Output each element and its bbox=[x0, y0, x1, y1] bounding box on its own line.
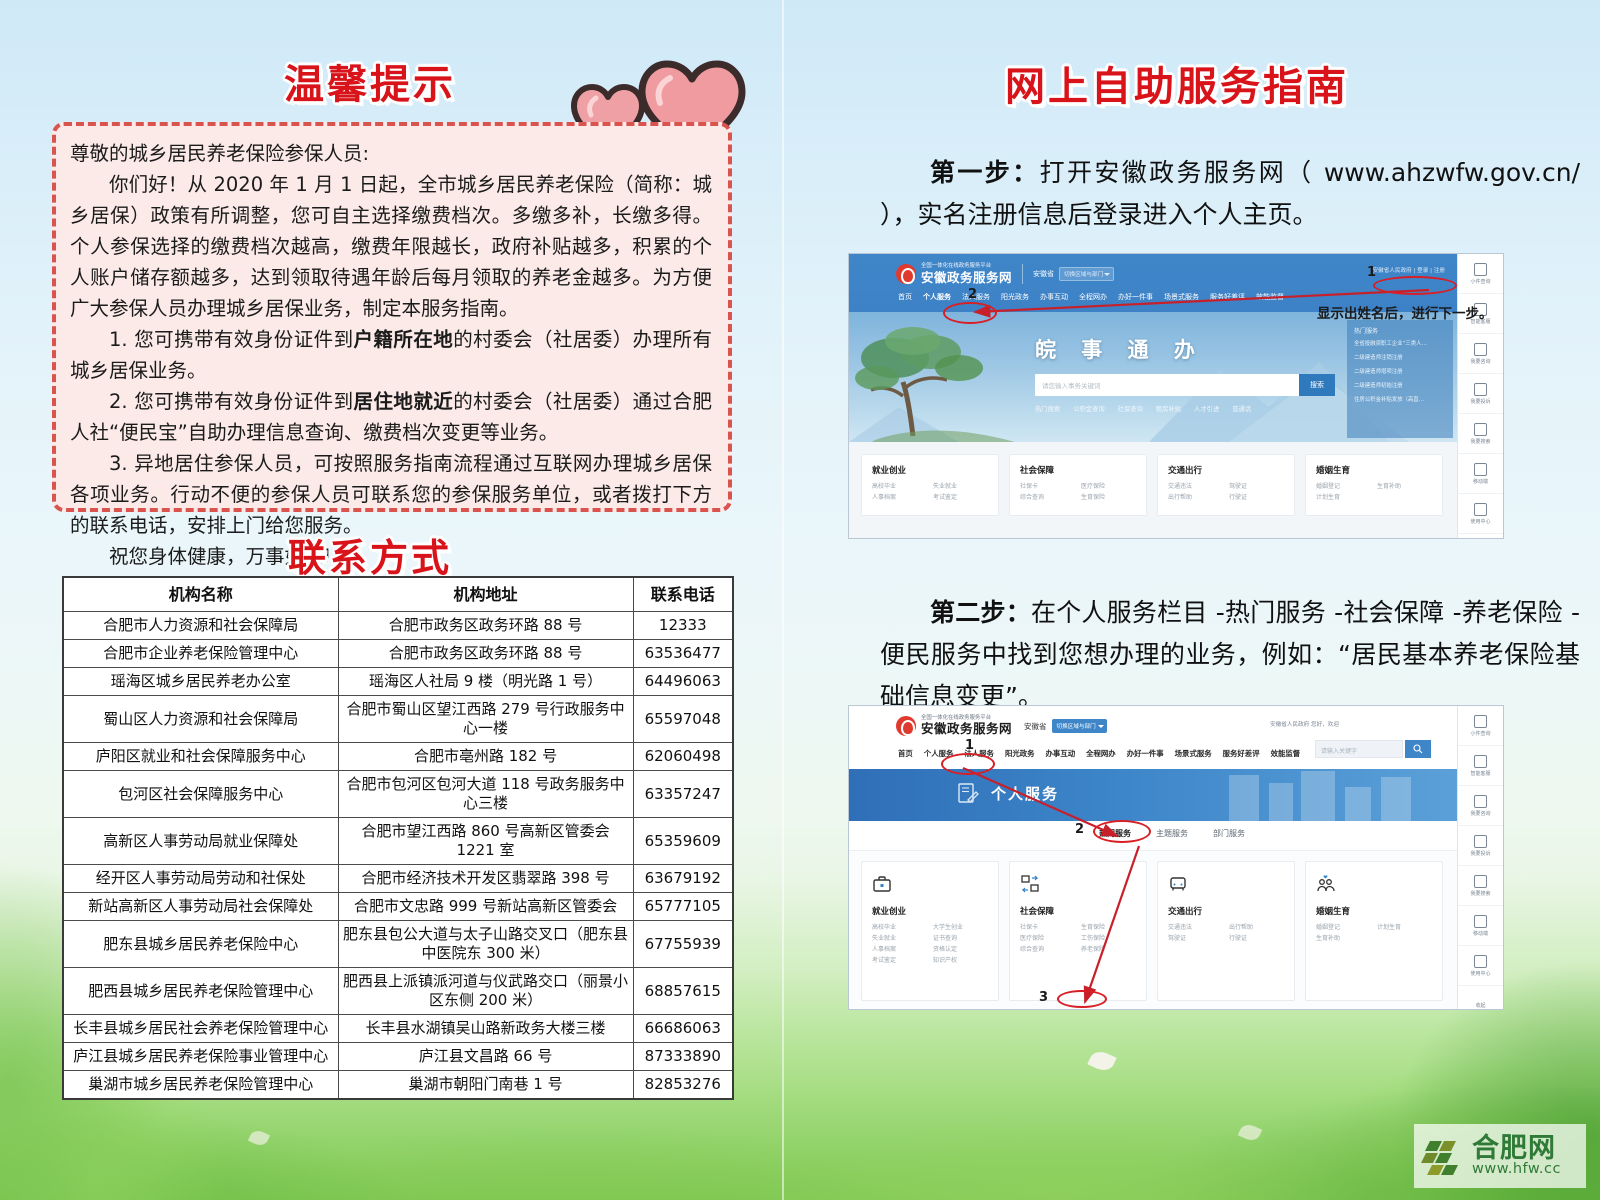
table-cell-org-name: 庐阳区就业和社会保障服务中心 bbox=[63, 743, 338, 771]
annotation-ellipse-1 bbox=[1373, 276, 1457, 295]
table-cell-org-phone: 63679192 bbox=[633, 865, 733, 893]
table-header-org-name: 机构名称 bbox=[63, 577, 338, 612]
side-panel-item[interactable]: 全省投融资职工企业“三类人… bbox=[1354, 339, 1446, 347]
rail-item-label: 小件查询 bbox=[1470, 730, 1490, 737]
shot1-side-panel-title: 热门服务 bbox=[1354, 326, 1446, 335]
mobile-icon bbox=[1474, 463, 1487, 476]
nav-item-9[interactable]: 效能监督 bbox=[1256, 292, 1284, 302]
tip-paragraph-2: 2. 您可携带有效身份证件到居住地就近的村委会（社居委）通过合肥人社“便民宝”自… bbox=[70, 386, 712, 448]
tip-paragraph-1: 1. 您可携带有效身份证件到户籍所在地的村委会（社居委）办理所有城乡居保业务。 bbox=[70, 324, 712, 386]
tab-2[interactable]: 部门服务 bbox=[1213, 828, 1245, 839]
table-cell-org-name: 巢湖市城乡居民养老保险管理中心 bbox=[63, 1071, 338, 1100]
table-cell-org-addr: 合肥市亳州路 182 号 bbox=[338, 743, 633, 771]
watermark-url: www.hfw.cc bbox=[1472, 1162, 1561, 1177]
step-1-label: 第一步： bbox=[930, 158, 1040, 187]
category-card-1[interactable]: 社会保障社保卡医疗保险综合查询生育保险 bbox=[1009, 454, 1147, 516]
watermark: 合肥网 www.hfw.cc bbox=[1414, 1124, 1586, 1188]
help-icon bbox=[1474, 955, 1487, 968]
category-sub-item[interactable]: 综合查询 bbox=[1020, 945, 1075, 954]
annotation-callout-1: 显示出姓名后，进行下一步。 bbox=[1317, 302, 1493, 322]
rail-item-label: 我要咨询 bbox=[1470, 810, 1490, 817]
table-cell-org-name: 长丰县城乡居民社会养老保险管理中心 bbox=[63, 1015, 338, 1043]
annotation-number-2: 2 bbox=[1075, 822, 1084, 837]
nav-item-6[interactable]: 办好一件事 bbox=[1127, 748, 1164, 759]
category-sub-item[interactable]: 出行帮助 bbox=[1229, 923, 1284, 932]
table-cell-org-phone: 63536477 bbox=[633, 640, 733, 668]
rail-item-label: 移动端 bbox=[1473, 478, 1488, 485]
briefcase-icon bbox=[872, 874, 988, 898]
rail-item-label: 小件查询 bbox=[1470, 278, 1490, 285]
hot-tag-1[interactable]: 公积金查询 bbox=[1073, 404, 1104, 413]
table-row: 包河区社会保障服务中心合肥市包河区包河大道 118 号政务服务中心三楼63357… bbox=[63, 771, 733, 818]
category-title: 交通出行 bbox=[1168, 464, 1284, 476]
shot2-banner-title: 个人服务 bbox=[991, 783, 1059, 804]
category-sub-item[interactable]: 失业就业 bbox=[933, 482, 988, 491]
table-cell-org-addr: 肥东县包公大道与太子山路交叉口（肥东县中医院东 300 米） bbox=[338, 921, 633, 968]
category-sub-item[interactable]: 出行帮助 bbox=[1168, 493, 1223, 502]
shot1-search-button[interactable]: 搜索 bbox=[1299, 374, 1335, 396]
nav-item-1[interactable]: 个人服务 bbox=[923, 292, 951, 302]
table-row: 庐江县城乡居民养老保险事业管理中心庐江县文昌路 66 号87333890 bbox=[63, 1043, 733, 1071]
category-sub-item[interactable]: 社保卡 bbox=[1020, 923, 1075, 932]
side-panel-item[interactable]: 二级建造师增项注册 bbox=[1354, 367, 1446, 375]
category-sub-item[interactable]: 社保卡 bbox=[1020, 482, 1075, 491]
rail-item-mobile[interactable]: 移动端 bbox=[1458, 454, 1503, 494]
document-icon bbox=[957, 783, 979, 809]
step-1-paragraph: 第一步：打开安徽政务服务网（ www.ahzwfw.gov.cn/ ），实名注册… bbox=[880, 152, 1580, 236]
screenshot-homepage: 全国一体化在线政务服务平台 安徽政务服务网 安徽省 切换区域与部门 安徽省人民政… bbox=[848, 253, 1504, 539]
table-cell-org-phone: 63357247 bbox=[633, 771, 733, 818]
left-panel: 温馨提示 尊敬的城乡居民养老保险参保人员: 你们好！从 2020 年 1 月 1… bbox=[0, 0, 782, 1200]
shot1-region-select[interactable]: 切换区域与部门 bbox=[1059, 267, 1114, 281]
shot2-search-box[interactable]: 请输入关键字 bbox=[1315, 740, 1403, 758]
table-cell-org-addr: 合肥市政务区政务环路 88 号 bbox=[338, 612, 633, 640]
tab-1[interactable]: 主题服务 bbox=[1156, 828, 1188, 839]
nav-item-0[interactable]: 首页 bbox=[898, 292, 912, 302]
rail-item-label: 使用中心 bbox=[1470, 970, 1490, 977]
annotation-number-1: 1 bbox=[1367, 265, 1376, 280]
category-sub-item[interactable]: 大学生创业 bbox=[933, 923, 988, 932]
rail-item-label: 收起 bbox=[1475, 1002, 1485, 1009]
contact-table: 机构名称 机构地址 联系电话 合肥市人力资源和社会保障局合肥市政务区政务环路 8… bbox=[62, 576, 734, 1100]
table-cell-org-name: 合肥市人力资源和社会保障局 bbox=[63, 612, 338, 640]
hot-tag-0: 热门搜索 bbox=[1035, 404, 1060, 413]
table-row: 蜀山区人力资源和社会保障局合肥市蜀山区望江西路 279 号行政服务中心一楼655… bbox=[63, 696, 733, 743]
rail-item-search[interactable]: 我要搜索 bbox=[1458, 414, 1503, 454]
table-row: 肥西县城乡居民养老保险管理中心肥西县上派镇派河道与仪武路交口（丽景小区东侧 20… bbox=[63, 968, 733, 1015]
table-row: 合肥市人力资源和社会保障局合肥市政务区政务环路 88 号12333 bbox=[63, 612, 733, 640]
shot1-province: 安徽省 bbox=[1033, 269, 1054, 279]
category-card-1[interactable]: 社会保障社保卡生育保险医疗保险工伤保险综合查询养老保险 bbox=[1009, 861, 1147, 1001]
category-sub-item[interactable]: 考试鉴定 bbox=[872, 956, 927, 965]
shot1-side-panel: 热门服务 全省投融资职工企业“三类人…二级建造师注销注册二级建造师增项注册二级建… bbox=[1347, 320, 1453, 438]
category-sub-item[interactable]: 生育保险 bbox=[1081, 493, 1136, 502]
table-row: 长丰县城乡居民社会养老保险管理中心长丰县水湖镇吴山路新政务大楼三楼6668606… bbox=[63, 1015, 733, 1043]
rail-item-mobile[interactable]: 移动端 bbox=[1458, 906, 1503, 946]
category-card-2[interactable]: 交通出行交通违法驾驶证出行帮助行驶证 bbox=[1157, 454, 1295, 516]
shot1-nav: 首页个人服务法人服务阳光政务办事互动全程网办办好一件事场景式服务服务好差评效能监… bbox=[898, 292, 1284, 302]
shot1-right-rail: 小件查询智能客服我要咨询我要投诉我要搜索移动端使用中心收起 bbox=[1457, 254, 1503, 539]
table-cell-org-addr: 长丰县水湖镇吴山路新政务大楼三楼 bbox=[338, 1015, 633, 1043]
category-card-2[interactable]: 交通出行交通违法出行帮助驾驶证行驶证 bbox=[1157, 861, 1295, 1001]
watermark-name: 合肥网 bbox=[1472, 1135, 1561, 1162]
table-cell-org-phone: 65777105 bbox=[633, 893, 733, 921]
table-row: 经开区人事劳动局劳动和社保处合肥市经济技术开发区翡翠路 398 号6367919… bbox=[63, 865, 733, 893]
category-sub-item[interactable]: 计划生育 bbox=[1377, 923, 1432, 932]
rail-item-collapse[interactable]: 收起 bbox=[1458, 534, 1503, 539]
category-sub-item[interactable]: 计划生育 bbox=[1316, 493, 1371, 502]
table-row: 高新区人事劳动局就业保障处合肥市望江西路 860 号高新区管委会 1221 室6… bbox=[63, 818, 733, 865]
file-icon bbox=[1474, 263, 1487, 276]
social-security-icon bbox=[1020, 874, 1136, 898]
category-card-3[interactable]: 婚姻生育婚姻登记计划生育生育补助 bbox=[1305, 861, 1443, 1001]
rail-item-help[interactable]: 使用中心 bbox=[1458, 946, 1503, 986]
table-row: 合肥市企业养老保险管理中心合肥市政务区政务环路 88 号63536477 bbox=[63, 640, 733, 668]
rail-item-edit[interactable]: 我要投诉 bbox=[1458, 826, 1503, 866]
category-sub-item[interactable]: 婚姻登记 bbox=[1316, 482, 1371, 491]
annotation-ellipse-2 bbox=[1093, 820, 1151, 843]
category-sub-item[interactable]: 养老保险 bbox=[1081, 945, 1136, 954]
category-card-0[interactable]: 就业创业高校毕业大学生创业失业就业证书查询人事档案资格认定考试鉴定知识产权 bbox=[861, 861, 999, 1001]
annotation-ellipse-1 bbox=[941, 753, 995, 775]
category-title: 就业创业 bbox=[872, 464, 988, 476]
rail-item-search[interactable]: 我要搜索 bbox=[1458, 866, 1503, 906]
shot2-logo-title: 安徽政务服务网 bbox=[921, 723, 1012, 736]
nav-item-0[interactable]: 首页 bbox=[898, 748, 913, 759]
table-cell-org-phone: 65597048 bbox=[633, 696, 733, 743]
headset-icon bbox=[1474, 755, 1487, 768]
shot1-logo-subtitle: 全国一体化在线政务服务平台 bbox=[921, 263, 1012, 270]
category-sub-item[interactable]: 知识产权 bbox=[933, 956, 988, 965]
category-sub-item[interactable]: 驾驶证 bbox=[1229, 482, 1284, 491]
shot2-header: 全国一体化在线政务服务平台 安徽政务服务网 安徽省 切换区域与部门 安徽省人民政… bbox=[849, 706, 1459, 769]
step-2-label: 第二步： bbox=[930, 598, 1031, 627]
table-row: 庐阳区就业和社会保障服务中心合肥市亳州路 182 号62060498 bbox=[63, 743, 733, 771]
step-2-paragraph: 第二步：在个人服务栏目 -热门服务 -社会保障 -养老保险 -便民服务中找到您想… bbox=[880, 592, 1580, 718]
category-title: 社会保障 bbox=[1020, 464, 1136, 476]
table-cell-org-addr: 瑶海区人社局 9 楼（明光路 1 号） bbox=[338, 668, 633, 696]
category-sub-item[interactable]: 资格认定 bbox=[933, 945, 988, 954]
side-panel-item[interactable]: 二级建造师初始注册 bbox=[1354, 381, 1446, 389]
search-icon bbox=[1474, 875, 1487, 888]
category-sub-item[interactable]: 行驶证 bbox=[1229, 934, 1284, 943]
category-sub-item[interactable]: 考试鉴定 bbox=[933, 493, 988, 502]
help-icon bbox=[1474, 503, 1487, 516]
shot1-logo-title: 安徽政务服务网 bbox=[921, 272, 1012, 285]
nav-item-7[interactable]: 场景式服务 bbox=[1175, 748, 1212, 759]
table-cell-org-name: 瑶海区城乡居民养老办公室 bbox=[63, 668, 338, 696]
category-sub-item[interactable]: 婚姻登记 bbox=[1316, 923, 1371, 932]
table-cell-org-addr: 合肥市文忠路 999 号新站高新区管委会 bbox=[338, 893, 633, 921]
rail-item-file[interactable]: 小件查询 bbox=[1458, 254, 1503, 294]
table-cell-org-addr: 肥西县上派镇派河道与仪武路交口（丽景小区东侧 200 米） bbox=[338, 968, 633, 1015]
table-cell-org-phone: 68857615 bbox=[633, 968, 733, 1015]
right-panel: 网上自助服务指南 第一步：打开安徽政务服务网（ www.ahzwfw.gov.c… bbox=[782, 0, 1600, 1200]
bus-icon bbox=[1168, 874, 1284, 898]
category-sub-item[interactable]: 生育补助 bbox=[1316, 934, 1371, 943]
shot1-logo-divider bbox=[1022, 264, 1023, 284]
edit-icon bbox=[1474, 383, 1487, 396]
table-cell-org-name: 蜀山区人力资源和社会保障局 bbox=[63, 696, 338, 743]
category-card-3[interactable]: 婚姻生育婚姻登记生育补助计划生育 bbox=[1305, 454, 1443, 516]
shot1-search-box[interactable]: 请您输入事务关键词 bbox=[1035, 374, 1299, 396]
nav-item-6[interactable]: 办好一件事 bbox=[1118, 292, 1153, 302]
table-cell-org-phone: 62060498 bbox=[633, 743, 733, 771]
category-title: 婚姻生育 bbox=[1316, 905, 1432, 917]
hot-tag-3[interactable]: 租房补贴 bbox=[1156, 404, 1181, 413]
rail-item-headset[interactable]: 智能客服 bbox=[1458, 746, 1503, 786]
table-cell-org-addr: 合肥市蜀山区望江西路 279 号行政服务中心一楼 bbox=[338, 696, 633, 743]
file-icon bbox=[1474, 715, 1487, 728]
chat-icon bbox=[1474, 343, 1487, 356]
category-title: 交通出行 bbox=[1168, 905, 1284, 917]
table-cell-org-phone: 66686063 bbox=[633, 1015, 733, 1043]
category-sub-item[interactable]: 医疗保险 bbox=[1020, 934, 1075, 943]
category-sub-item[interactable]: 驾驶证 bbox=[1168, 934, 1223, 943]
search-icon bbox=[1474, 423, 1487, 436]
category-sub-item[interactable]: 人事档案 bbox=[872, 493, 927, 502]
rail-item-label: 我要投诉 bbox=[1470, 850, 1490, 857]
shot2-right-rail: 小件查询智能客服我要咨询我要投诉我要搜索移动端使用中心收起 bbox=[1457, 706, 1503, 1010]
table-cell-org-name: 肥东县城乡居民养老保险中心 bbox=[63, 921, 338, 968]
shot2-search-button[interactable] bbox=[1405, 740, 1431, 758]
category-sub-item[interactable]: 交通违法 bbox=[1168, 923, 1223, 932]
rail-item-label: 我要咨询 bbox=[1470, 358, 1490, 365]
annotation-number-1: 1 bbox=[965, 738, 974, 753]
rail-item-help[interactable]: 使用中心 bbox=[1458, 494, 1503, 534]
category-sub-item[interactable]: 证书查询 bbox=[933, 934, 988, 943]
category-title: 婚姻生育 bbox=[1316, 464, 1432, 476]
nav-item-5[interactable]: 全程网办 bbox=[1079, 292, 1107, 302]
nav-item-8[interactable]: 服务好差评 bbox=[1210, 292, 1245, 302]
shot1-search-placeholder: 请您输入事务关键词 bbox=[1042, 380, 1101, 390]
category-sub-item[interactable]: 医疗保险 bbox=[1081, 482, 1136, 491]
shot2-search-placeholder: 请输入关键字 bbox=[1321, 746, 1357, 755]
tip-paragraph-intro: 你们好！从 2020 年 1 月 1 日起，全市城乡居民养老保险（简称：城乡居保… bbox=[70, 169, 712, 324]
guide-title: 网上自助服务指南 bbox=[782, 54, 1572, 112]
category-sub-item[interactable]: 高校毕业 bbox=[872, 923, 927, 932]
rail-item-chat[interactable]: 我要咨询 bbox=[1458, 334, 1503, 374]
shot1-content: 就业创业高校毕业失业就业人事档案考试鉴定社会保障社保卡医疗保险综合查询生育保险交… bbox=[849, 442, 1459, 539]
annotation-ellipse-3 bbox=[1057, 990, 1107, 1008]
shot2-account-area[interactable]: 安徽省人民政府 您好，欢迎 bbox=[1270, 720, 1339, 728]
category-card-0[interactable]: 就业创业高校毕业失业就业人事档案考试鉴定 bbox=[861, 454, 999, 516]
nav-item-9[interactable]: 效能监督 bbox=[1271, 748, 1301, 759]
nav-item-4[interactable]: 办事互动 bbox=[1046, 748, 1076, 759]
tip-salutation: 尊敬的城乡居民养老保险参保人员: bbox=[70, 138, 712, 169]
table-row: 瑶海区城乡居民养老办公室瑶海区人社局 9 楼（明光路 1 号）64496063 bbox=[63, 668, 733, 696]
shot1-hot-tags: 热门搜索公积金查询社保查询租房补贴人才引进普通话 bbox=[1035, 404, 1251, 413]
annotation-number-3: 3 bbox=[1039, 990, 1048, 1005]
table-cell-org-addr: 巢湖市朝阳门南巷 1 号 bbox=[338, 1071, 633, 1100]
table-header-org-phone: 联系电话 bbox=[633, 577, 733, 612]
rail-item-chat[interactable]: 我要咨询 bbox=[1458, 786, 1503, 826]
table-header-row: 机构名称 机构地址 联系电话 bbox=[63, 577, 733, 612]
category-sub-item[interactable]: 失业就业 bbox=[872, 934, 927, 943]
contact-title: 联系方式 bbox=[0, 527, 740, 582]
nav-item-3[interactable]: 阳光政务 bbox=[1005, 748, 1035, 759]
category-sub-item[interactable]: 生育保险 bbox=[1081, 923, 1136, 932]
hot-tag-4[interactable]: 人才引进 bbox=[1194, 404, 1219, 413]
table-cell-org-name: 经开区人事劳动局劳动和社保处 bbox=[63, 865, 338, 893]
side-panel-item[interactable]: 二级建造师注销注册 bbox=[1354, 353, 1446, 361]
shot2-tabs-row: 热门服务主题服务部门服务 bbox=[849, 821, 1459, 851]
mobile-icon bbox=[1474, 915, 1487, 928]
table-cell-org-phone: 67755939 bbox=[633, 921, 733, 968]
nav-item-8[interactable]: 服务好差评 bbox=[1223, 748, 1260, 759]
shot2-banner: 个人服务 bbox=[849, 769, 1459, 821]
rail-item-file[interactable]: 小件查询 bbox=[1458, 706, 1503, 746]
nav-item-4[interactable]: 办事互动 bbox=[1040, 292, 1068, 302]
table-row: 新站高新区人事劳动局社会保障处合肥市文忠路 999 号新站高新区管委会65777… bbox=[63, 893, 733, 921]
annotation-ellipse-2 bbox=[943, 302, 997, 324]
category-sub-item[interactable]: 交通违法 bbox=[1168, 482, 1223, 491]
table-cell-org-name: 合肥市企业养老保险管理中心 bbox=[63, 640, 338, 668]
search-icon bbox=[1413, 744, 1423, 754]
table-cell-org-phone: 12333 bbox=[633, 612, 733, 640]
table-cell-org-addr: 庐江县文昌路 66 号 bbox=[338, 1043, 633, 1071]
family-icon bbox=[1316, 874, 1432, 898]
chevron-down-icon bbox=[1104, 273, 1110, 276]
nav-item-3[interactable]: 阳光政务 bbox=[1001, 292, 1029, 302]
hefei-logo-icon bbox=[1420, 1133, 1466, 1179]
category-sub-item[interactable]: 高校毕业 bbox=[872, 482, 927, 491]
chevron-down-icon bbox=[1098, 725, 1104, 728]
table-cell-org-phone: 65359609 bbox=[633, 818, 733, 865]
category-sub-item[interactable]: 人事档案 bbox=[872, 945, 927, 954]
rail-item-label: 我要投诉 bbox=[1470, 398, 1490, 405]
category-sub-item[interactable]: 行驶证 bbox=[1229, 493, 1284, 502]
rail-item-label: 我要搜索 bbox=[1470, 890, 1490, 897]
site-logo-icon bbox=[896, 716, 916, 736]
shot1-hero: 皖 事 通 办 请您输入事务关键词 搜索 热门搜索公积金查询社保查询租房补贴人才… bbox=[849, 312, 1459, 442]
edit-icon bbox=[1474, 835, 1487, 848]
table-cell-org-phone: 87333890 bbox=[633, 1043, 733, 1071]
table-cell-org-addr: 合肥市政务区政务环路 88 号 bbox=[338, 640, 633, 668]
category-sub-item[interactable]: 工伤保险 bbox=[1081, 934, 1136, 943]
table-cell-org-phone: 64496063 bbox=[633, 668, 733, 696]
category-title: 社会保障 bbox=[1020, 905, 1136, 917]
shot1-banner-title: 皖 事 通 办 bbox=[1035, 334, 1204, 364]
side-panel-item[interactable]: 住房公积金补贴发放（高直… bbox=[1354, 395, 1446, 403]
shot2-content: 就业创业高校毕业大学生创业失业就业证书查询人事档案资格认定考试鉴定知识产权社会保… bbox=[849, 851, 1459, 1010]
annotation-number-2: 2 bbox=[968, 287, 977, 302]
rail-item-collapse[interactable]: 收起 bbox=[1458, 986, 1503, 1010]
screenshot-personal-service: 全国一体化在线政务服务平台 安徽政务服务网 安徽省 切换区域与部门 安徽省人民政… bbox=[848, 705, 1504, 1010]
rail-item-edit[interactable]: 我要投诉 bbox=[1458, 374, 1503, 414]
table-cell-org-name: 包河区社会保障服务中心 bbox=[63, 771, 338, 818]
shot1-account-area[interactable]: 安徽省人民政府 | 登录 | 注册 bbox=[1373, 266, 1445, 274]
rail-item-label: 智能客服 bbox=[1470, 770, 1490, 777]
table-cell-org-name: 高新区人事劳动局就业保障处 bbox=[63, 818, 338, 865]
table-cell-org-addr: 合肥市望江西路 860 号高新区管委会 1221 室 bbox=[338, 818, 633, 865]
nav-item-7[interactable]: 场景式服务 bbox=[1164, 292, 1199, 302]
table-cell-org-addr: 合肥市包河区包河大道 118 号政务服务中心三楼 bbox=[338, 771, 633, 818]
hot-tag-2[interactable]: 社保查询 bbox=[1118, 404, 1143, 413]
category-sub-item[interactable]: 生育补助 bbox=[1377, 482, 1432, 491]
chat-icon bbox=[1474, 795, 1487, 808]
table-cell-org-addr: 合肥市经济技术开发区翡翠路 398 号 bbox=[338, 865, 633, 893]
shot2-region-select[interactable]: 切换区域与部门 bbox=[1052, 719, 1107, 733]
table-row: 肥东县城乡居民养老保险中心肥东县包公大道与太子山路交叉口（肥东县中医院东 300… bbox=[63, 921, 733, 968]
table-cell-org-name: 肥西县城乡居民养老保险管理中心 bbox=[63, 968, 338, 1015]
rail-item-label: 我要搜索 bbox=[1470, 438, 1490, 445]
table-cell-org-name: 庐江县城乡居民养老保险事业管理中心 bbox=[63, 1043, 338, 1071]
table-row: 巢湖市城乡居民养老保险管理中心巢湖市朝阳门南巷 1 号82853276 bbox=[63, 1071, 733, 1100]
category-title: 就业创业 bbox=[872, 905, 988, 917]
table-cell-org-name: 新站高新区人事劳动局社会保障处 bbox=[63, 893, 338, 921]
shot2-province: 安徽省 bbox=[1024, 721, 1047, 732]
category-sub-item[interactable]: 综合查询 bbox=[1020, 493, 1075, 502]
tip-box: 尊敬的城乡居民养老保险参保人员: 你们好！从 2020 年 1 月 1 日起，全… bbox=[52, 122, 732, 512]
table-cell-org-phone: 82853276 bbox=[633, 1071, 733, 1100]
rail-item-label: 移动端 bbox=[1473, 930, 1488, 937]
site-logo-icon bbox=[896, 264, 916, 284]
rail-item-label: 使用中心 bbox=[1470, 518, 1490, 525]
nav-item-5[interactable]: 全程网办 bbox=[1086, 748, 1116, 759]
hot-tag-5[interactable]: 普通话 bbox=[1232, 404, 1251, 413]
table-header-org-addr: 机构地址 bbox=[338, 577, 633, 612]
